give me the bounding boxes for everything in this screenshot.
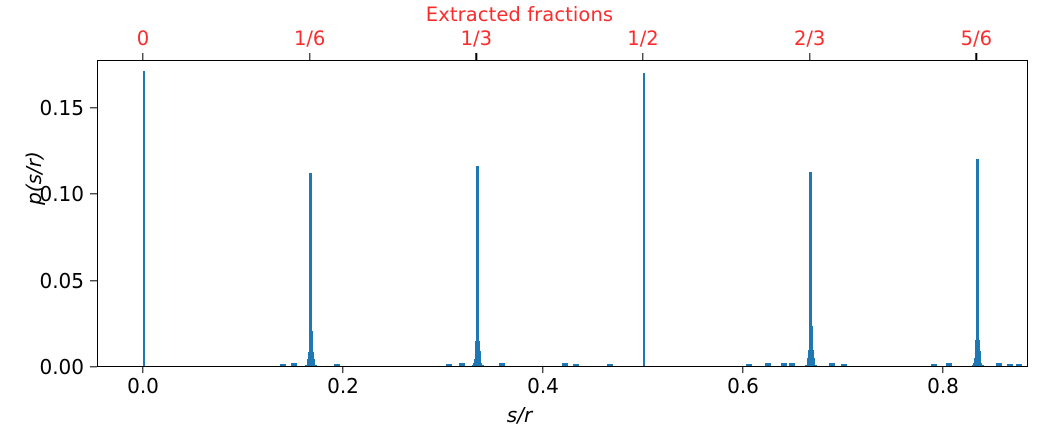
histogram-bar-noise: [931, 364, 938, 366]
histogram-bar-shoulder: [983, 365, 984, 366]
histogram-bar-noise: [829, 363, 836, 366]
xaxis-tick-label: 0.0: [127, 374, 159, 398]
histogram-bar-noise: [1016, 364, 1023, 366]
xaxis-tick-label: 0.8: [927, 374, 959, 398]
histogram-bar-noise: [280, 364, 287, 366]
histogram-bar-noise: [781, 363, 788, 366]
secondary-xaxis-tick-label: 0: [137, 28, 149, 50]
secondary-xaxis-tick-label: 2/3: [794, 28, 825, 50]
yaxis-tick-mark: [90, 366, 97, 367]
secondary-xaxis-title: Extracted fractions: [0, 4, 1039, 26]
histogram-peak-5-6: [976, 159, 979, 366]
secondary-xaxis-tick-mark: [476, 53, 477, 60]
xaxis-tick-label: 0.4: [527, 374, 559, 398]
histogram-bar-noise: [562, 363, 569, 366]
histogram-plot-area: [98, 61, 1027, 366]
histogram-bar-noise: [841, 364, 848, 366]
xaxis-tick-mark: [342, 366, 343, 373]
secondary-xaxis-tick-mark: [142, 53, 143, 60]
matplotlib-figure: Extracted fractions 01/61/31/22/35/6 0.0…: [0, 0, 1039, 433]
secondary-xaxis-tick-label: 1/3: [461, 28, 492, 50]
histogram-bar-noise: [291, 363, 298, 366]
xaxis-tick-mark: [542, 366, 543, 373]
secondary-xaxis-tick-label: 1/6: [294, 28, 325, 50]
histogram-bar-shoulder: [316, 365, 317, 366]
secondary-xaxis-tick-label: 1/2: [627, 28, 658, 50]
secondary-xaxis-tick-label: 5/6: [961, 28, 992, 50]
yaxis-label: p(s/r): [22, 48, 46, 308]
histogram-peak-1-6: [309, 173, 312, 366]
histogram-peak-1-2: [643, 73, 646, 366]
histogram-bar-noise: [996, 363, 1003, 366]
histogram-bar-noise: [765, 363, 772, 366]
secondary-xaxis-tick-mark: [976, 53, 977, 60]
histogram-peak-0: [143, 71, 146, 366]
yaxis-tick-mark: [90, 107, 97, 108]
histogram-bar-noise: [573, 364, 580, 366]
histogram-bar-noise: [459, 363, 466, 366]
xaxis-tick-label: 0.2: [327, 374, 359, 398]
histogram-bar-shoulder: [816, 365, 817, 366]
secondary-xaxis-tick-mark: [809, 53, 810, 60]
histogram-bar-noise: [789, 363, 796, 366]
xaxis-label: s/r: [0, 403, 1039, 427]
histogram-bar-noise: [1007, 364, 1014, 366]
xaxis-tick-mark: [742, 366, 743, 373]
yaxis-tick-mark: [90, 280, 97, 281]
histogram-bar-noise: [746, 364, 753, 366]
yaxis-tick-mark: [90, 193, 97, 194]
xaxis-tick-mark: [942, 366, 943, 373]
xaxis-tick-mark: [142, 366, 143, 373]
histogram-bar-noise: [499, 363, 506, 366]
histogram-bar-noise: [607, 364, 614, 366]
histogram-peak-2-3: [809, 172, 812, 366]
histogram-bar-noise: [334, 364, 341, 366]
histogram-bar-noise: [446, 364, 453, 366]
xaxis-tick-label: 0.6: [727, 374, 759, 398]
histogram-bar-shoulder: [483, 365, 484, 366]
histogram-peak-1-3: [476, 166, 479, 366]
secondary-xaxis-tick-mark: [309, 53, 310, 60]
plot-axes-frame: [97, 60, 1028, 367]
histogram-bar-noise: [946, 363, 953, 366]
secondary-xaxis-tick-mark: [642, 53, 643, 60]
yaxis-tick-label: 0.00: [22, 355, 84, 379]
